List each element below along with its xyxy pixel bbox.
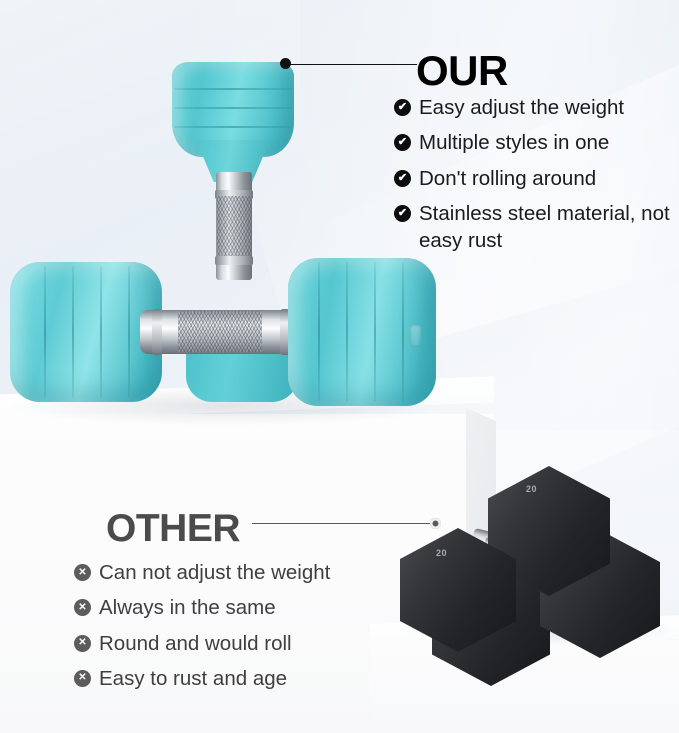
check-circle-icon: ✔ <box>394 205 411 222</box>
feature-text: Easy adjust the weight <box>419 94 624 121</box>
other-heading: OTHER <box>106 507 240 551</box>
teal-dumbbell-knurling <box>217 196 251 258</box>
feature-text: Always in the same <box>99 594 276 621</box>
list-item: ✔ Stainless steel material, not easy rus… <box>394 200 674 255</box>
cross-circle-icon: ✕ <box>74 599 91 616</box>
feature-text: Round and would roll <box>99 630 292 657</box>
teal-dumbbell-bar-knurling <box>178 311 262 353</box>
list-item: ✔ Multiple styles in one <box>394 129 674 156</box>
product-comparison-infographic: 20 20 OUR ✔ Easy adjust the weight ✔ Mul… <box>0 0 679 733</box>
our-heading: OUR <box>416 47 508 95</box>
check-circle-icon: ✔ <box>394 99 411 116</box>
cross-circle-icon: ✕ <box>74 635 91 652</box>
list-item: ✕ Round and would roll <box>74 630 404 657</box>
feature-text: Don't rolling around <box>419 165 596 192</box>
hex-dumbbell-weight-label-2: 20 <box>436 548 447 558</box>
callout-dot-other <box>430 518 441 529</box>
list-item: ✔ Don't rolling around <box>394 165 674 192</box>
list-item: ✔ Easy adjust the weight <box>394 94 674 121</box>
brand-logo-badge <box>410 325 421 347</box>
feature-text: Multiple styles in one <box>419 129 609 156</box>
list-item: ✕ Always in the same <box>74 594 404 621</box>
teal-dumbbell-bar-collar-left <box>152 309 162 355</box>
feature-text: Stainless steel material, not easy rust <box>419 200 674 255</box>
check-circle-icon: ✔ <box>394 134 411 151</box>
cross-circle-icon: ✕ <box>74 670 91 687</box>
cross-circle-icon: ✕ <box>74 564 91 581</box>
teal-dumbbell-collar-lower <box>215 256 253 265</box>
callout-line-other <box>252 523 434 524</box>
check-circle-icon: ✔ <box>394 170 411 187</box>
list-item: ✕ Easy to rust and age <box>74 665 404 692</box>
feature-text: Easy to rust and age <box>99 665 287 692</box>
other-feature-list: ✕ Can not adjust the weight ✕ Always in … <box>74 559 404 700</box>
callout-line-our <box>289 64 417 65</box>
our-feature-list: ✔ Easy adjust the weight ✔ Multiple styl… <box>394 94 674 262</box>
hex-dumbbell-weight-label: 20 <box>526 484 537 494</box>
feature-text: Can not adjust the weight <box>99 559 330 586</box>
list-item: ✕ Can not adjust the weight <box>74 559 404 586</box>
